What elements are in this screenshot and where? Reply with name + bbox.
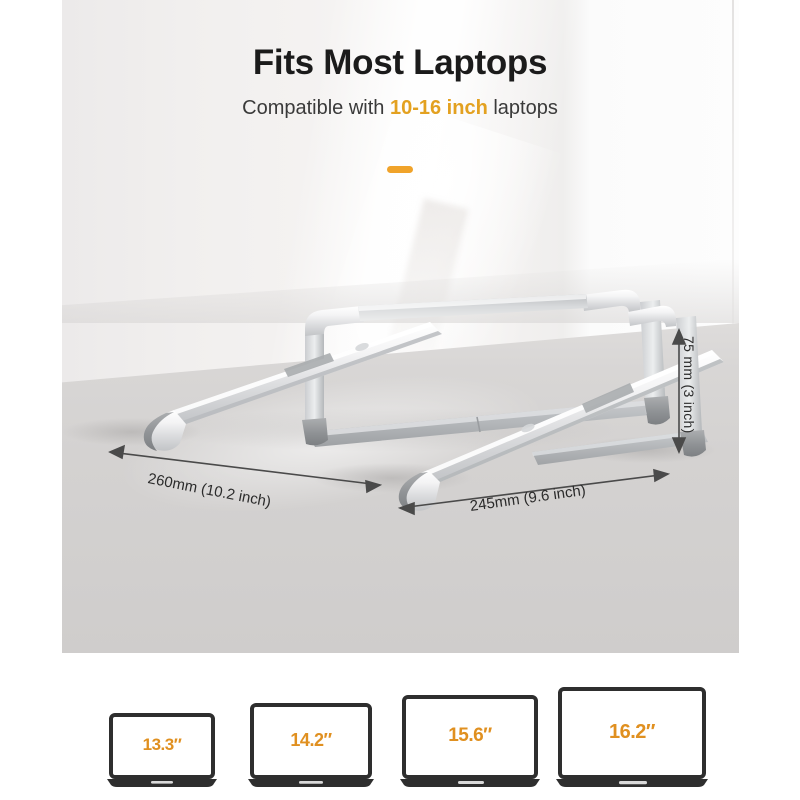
- rear-left-foot-cap: [302, 418, 328, 445]
- rear-right-foot-cap: [644, 396, 670, 425]
- rear-right-elbow: [582, 290, 640, 312]
- laptop-icon-14: 14.2″: [248, 703, 374, 792]
- laptop-icon-15: 15.6″: [400, 695, 540, 792]
- laptop-size-label-15: 15.6″: [400, 725, 540, 747]
- laptop-size-comparison-row: 13.3″ 14.2″ 15.6″: [0, 690, 800, 800]
- laptop-size-label-13: 13.3″: [107, 735, 217, 755]
- page-headline: Fits Most Laptops: [0, 44, 800, 83]
- subhead-accent-size-range: 10-16 inch: [390, 97, 488, 119]
- arrow-260-head-left: [110, 446, 124, 458]
- subhead-suffix: laptops: [488, 97, 558, 119]
- arrow-245-head-right: [654, 470, 668, 481]
- laptop-icon-13: 13.3″: [107, 713, 217, 792]
- front-right-foot-cap: [680, 430, 706, 457]
- subhead-prefix: Compatible with: [242, 97, 390, 119]
- orange-divider-dash: [387, 166, 413, 173]
- laptop-icon-16: 16.2″: [556, 687, 708, 792]
- rear-left-elbow: [305, 306, 364, 336]
- laptop-size-label-16: 16.2″: [556, 721, 708, 744]
- dimension-label-height: 75 mm (3 inch): [681, 336, 697, 434]
- infographic-page: Fits Most Laptops Compatible with 10-16 …: [0, 0, 800, 800]
- laptop-size-label-14: 14.2″: [248, 730, 374, 751]
- page-subheadline: Compatible with 10-16 inch laptops: [0, 96, 800, 120]
